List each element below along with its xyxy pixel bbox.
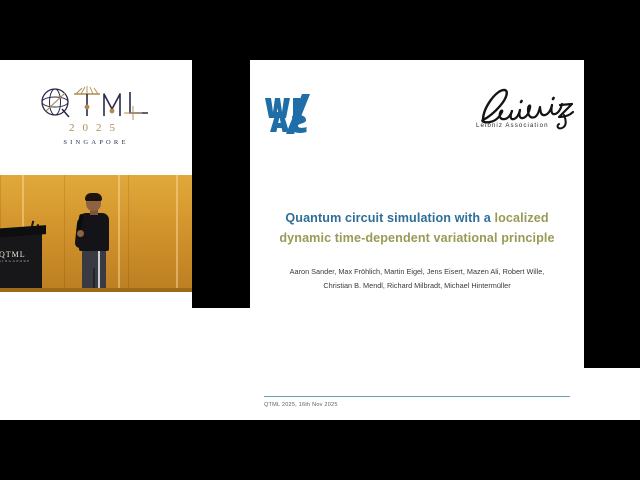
qtml-logo-year: 2025 [42,122,150,134]
lectern-logo-text: QTML [0,250,26,259]
slide-footer-text: QTML 2025, 16th Nov 2025 [264,402,338,408]
author-line-2: Christian B. Mendl, Richard Milbradt, Mi… [323,281,510,290]
slide-title-line2: dynamic time-dependent variational princ… [279,231,554,245]
wall-seam [176,175,178,292]
slide-title-blue: Quantum circuit simulation with a [285,211,494,225]
leibniz-association-logo: Leibniz Association [474,86,578,142]
slide-title-olive-inline: localized [495,211,549,225]
qtml-conference-logo: 2025 SINGAPORE [38,82,154,154]
qtml-wordmark-icon [38,82,154,122]
speaker-hand [77,230,84,237]
lectern-logo: QTML SINGAPORE [0,250,31,263]
black-gap-middle [192,55,250,308]
leibniz-association-caption: Leibniz Association [476,122,549,129]
wall-seam [118,175,120,292]
video-frame: 2025 SINGAPORE QTML SINGAPORE [0,0,640,480]
lectern-logo-subtext: SINGAPORE [0,259,31,263]
wias-logo-icon [264,92,318,136]
presentation-slide: Leibniz Association Quantum circuit simu… [250,60,584,420]
slide-title: Quantum circuit simulation with a locali… [266,208,568,248]
speaker-video-feed: QTML SINGAPORE [0,175,192,292]
black-gap-right [584,55,640,368]
lectern: QTML SINGAPORE [0,234,42,292]
floor-strip [0,288,192,292]
speaker-leg-split [93,268,95,290]
slide-footer-rule [264,396,570,397]
video-content-area: 2025 SINGAPORE QTML SINGAPORE [0,60,640,420]
lectern-top [0,225,46,238]
qtml-logo-city: SINGAPORE [42,139,150,146]
speaker-hair [85,193,102,201]
speaker-person [76,194,116,290]
conference-logo-panel: 2025 SINGAPORE [0,60,192,175]
author-line-1: Aaron Sander, Max Fröhlich, Martin Eigel… [290,267,545,276]
slide-author-list: Aaron Sander, Max Fröhlich, Martin Eigel… [266,265,568,292]
speaker-trouser-stripe [98,250,100,288]
